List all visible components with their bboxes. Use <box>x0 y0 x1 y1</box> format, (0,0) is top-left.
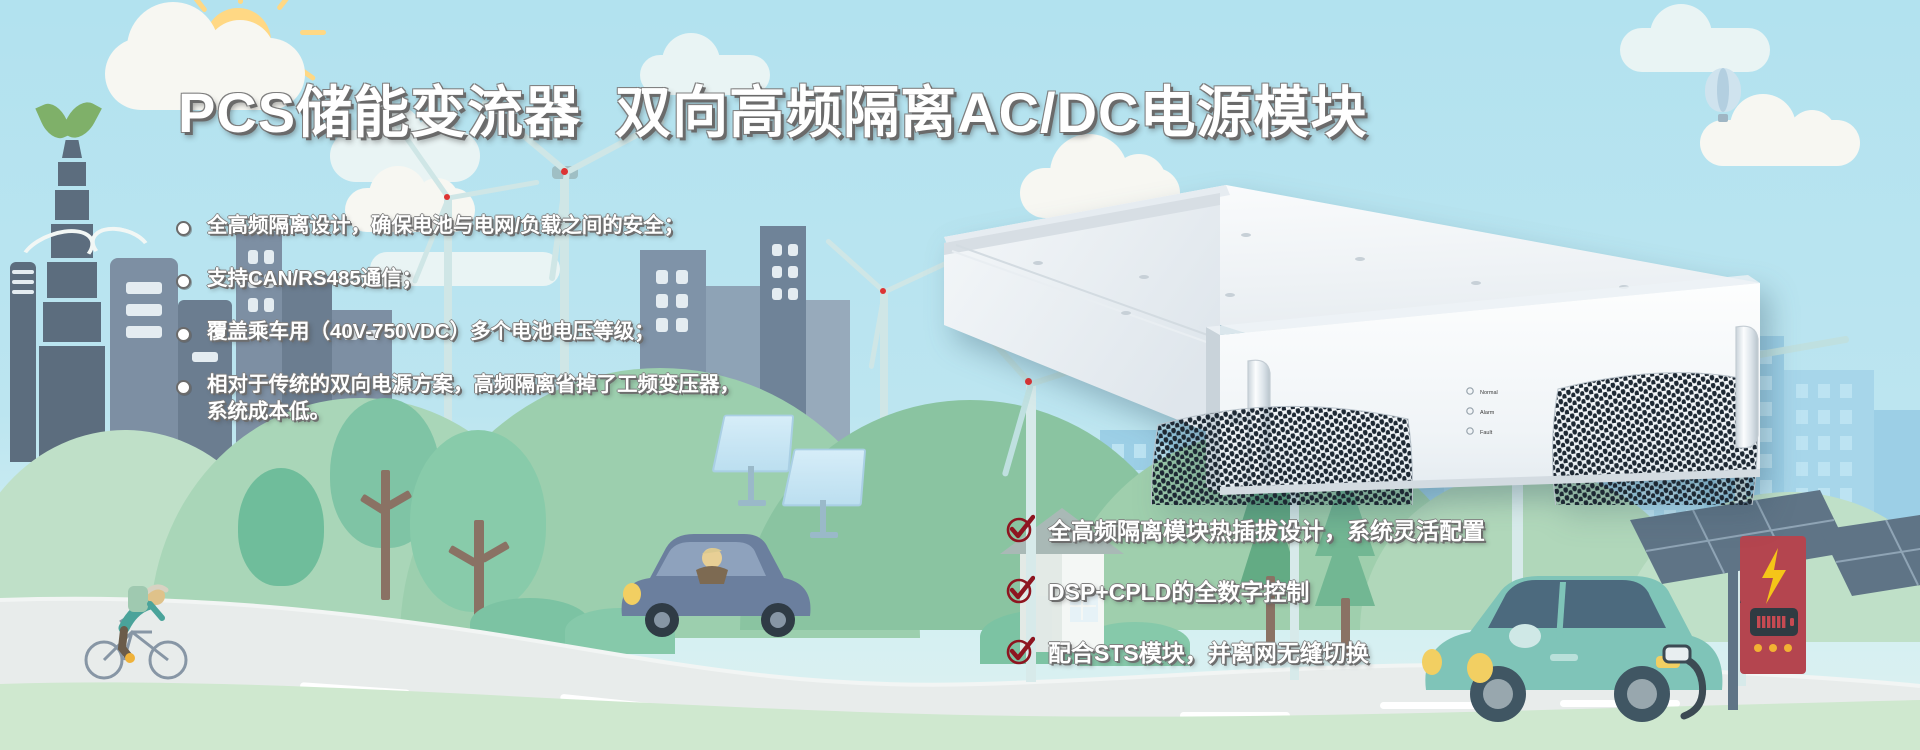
check-mark-icon <box>1005 575 1035 605</box>
check-mark-icon <box>1005 636 1035 666</box>
bullet-dot-icon <box>176 274 191 289</box>
bullet-text: 支持CAN/RS485通信； <box>207 265 422 292</box>
list-item: 相对于传统的双向电源方案，高频隔离省掉了工频变压器， 系统成本低。 <box>176 371 740 425</box>
title-part2: 双向高频隔离AC/DC电源模块 <box>615 81 1367 144</box>
bullet-text: 相对于传统的双向电源方案，高频隔离省掉了工频变压器， 系统成本低。 <box>207 371 740 425</box>
check-text: DSP+CPLD的全数字控制 <box>1048 573 1309 607</box>
city-window <box>1796 384 1808 398</box>
bullet-dot-icon <box>176 380 191 395</box>
check-mark-icon <box>1005 514 1035 544</box>
bullet-text: 覆盖乘车用（40V-750VDC）多个电池电压等级； <box>207 318 655 345</box>
bullet-dot-icon <box>176 221 191 236</box>
list-item: 全高频隔离设计，确保电池与电网/负载之间的安全； <box>176 212 740 239</box>
city-window <box>1760 376 1772 390</box>
list-item: 配合STS模块，并离网无缝切换 <box>1005 634 1485 668</box>
feature-bullet-list: 全高频隔离设计，确保电池与电网/负载之间的安全； 支持CAN/RS485通信； … <box>176 212 740 451</box>
list-item: 支持CAN/RS485通信； <box>176 265 740 292</box>
blue-car <box>592 508 852 663</box>
feature-check-list: 全高频隔离模块热插拔设计，系统灵活配置 DSP+CPLD的全数字控制 配合STS… <box>1005 512 1485 695</box>
cyclist <box>78 572 208 687</box>
product-image-power-module: Normal Alarm Fault <box>930 175 1760 505</box>
list-item: 覆盖乘车用（40V-750VDC）多个电池电压等级； <box>176 318 740 345</box>
city-window <box>1818 436 1830 450</box>
city-window <box>1796 410 1808 424</box>
check-text: 全高频隔离模块热插拔设计，系统灵活配置 <box>1048 512 1485 546</box>
check-text: 配合STS模块，并离网无缝切换 <box>1048 634 1369 668</box>
svg-text:Fault: Fault <box>1480 430 1493 436</box>
product-banner: Normal Alarm Fault PCS储能变流器双向高频隔离AC/DC电源… <box>0 0 1920 750</box>
city-window <box>1840 384 1852 398</box>
bullet-text: 全高频隔离设计，确保电池与电网/负载之间的安全； <box>207 212 684 239</box>
title-part1: PCS储能变流器 <box>178 81 581 144</box>
svg-text:Normal: Normal <box>1480 390 1498 396</box>
bullet-dot-icon <box>176 327 191 342</box>
page-title: PCS储能变流器双向高频隔离AC/DC电源模块 <box>178 68 1367 149</box>
city-window <box>1818 384 1830 398</box>
list-item: 全高频隔离模块热插拔设计，系统灵活配置 <box>1005 512 1485 546</box>
city-window <box>1796 436 1808 450</box>
city-window <box>1818 410 1830 424</box>
list-item: DSP+CPLD的全数字控制 <box>1005 573 1485 607</box>
city-window <box>1760 428 1772 442</box>
city-window <box>1760 402 1772 416</box>
city-window <box>1840 436 1852 450</box>
city-window <box>1840 410 1852 424</box>
svg-text:Alarm: Alarm <box>1480 410 1495 416</box>
